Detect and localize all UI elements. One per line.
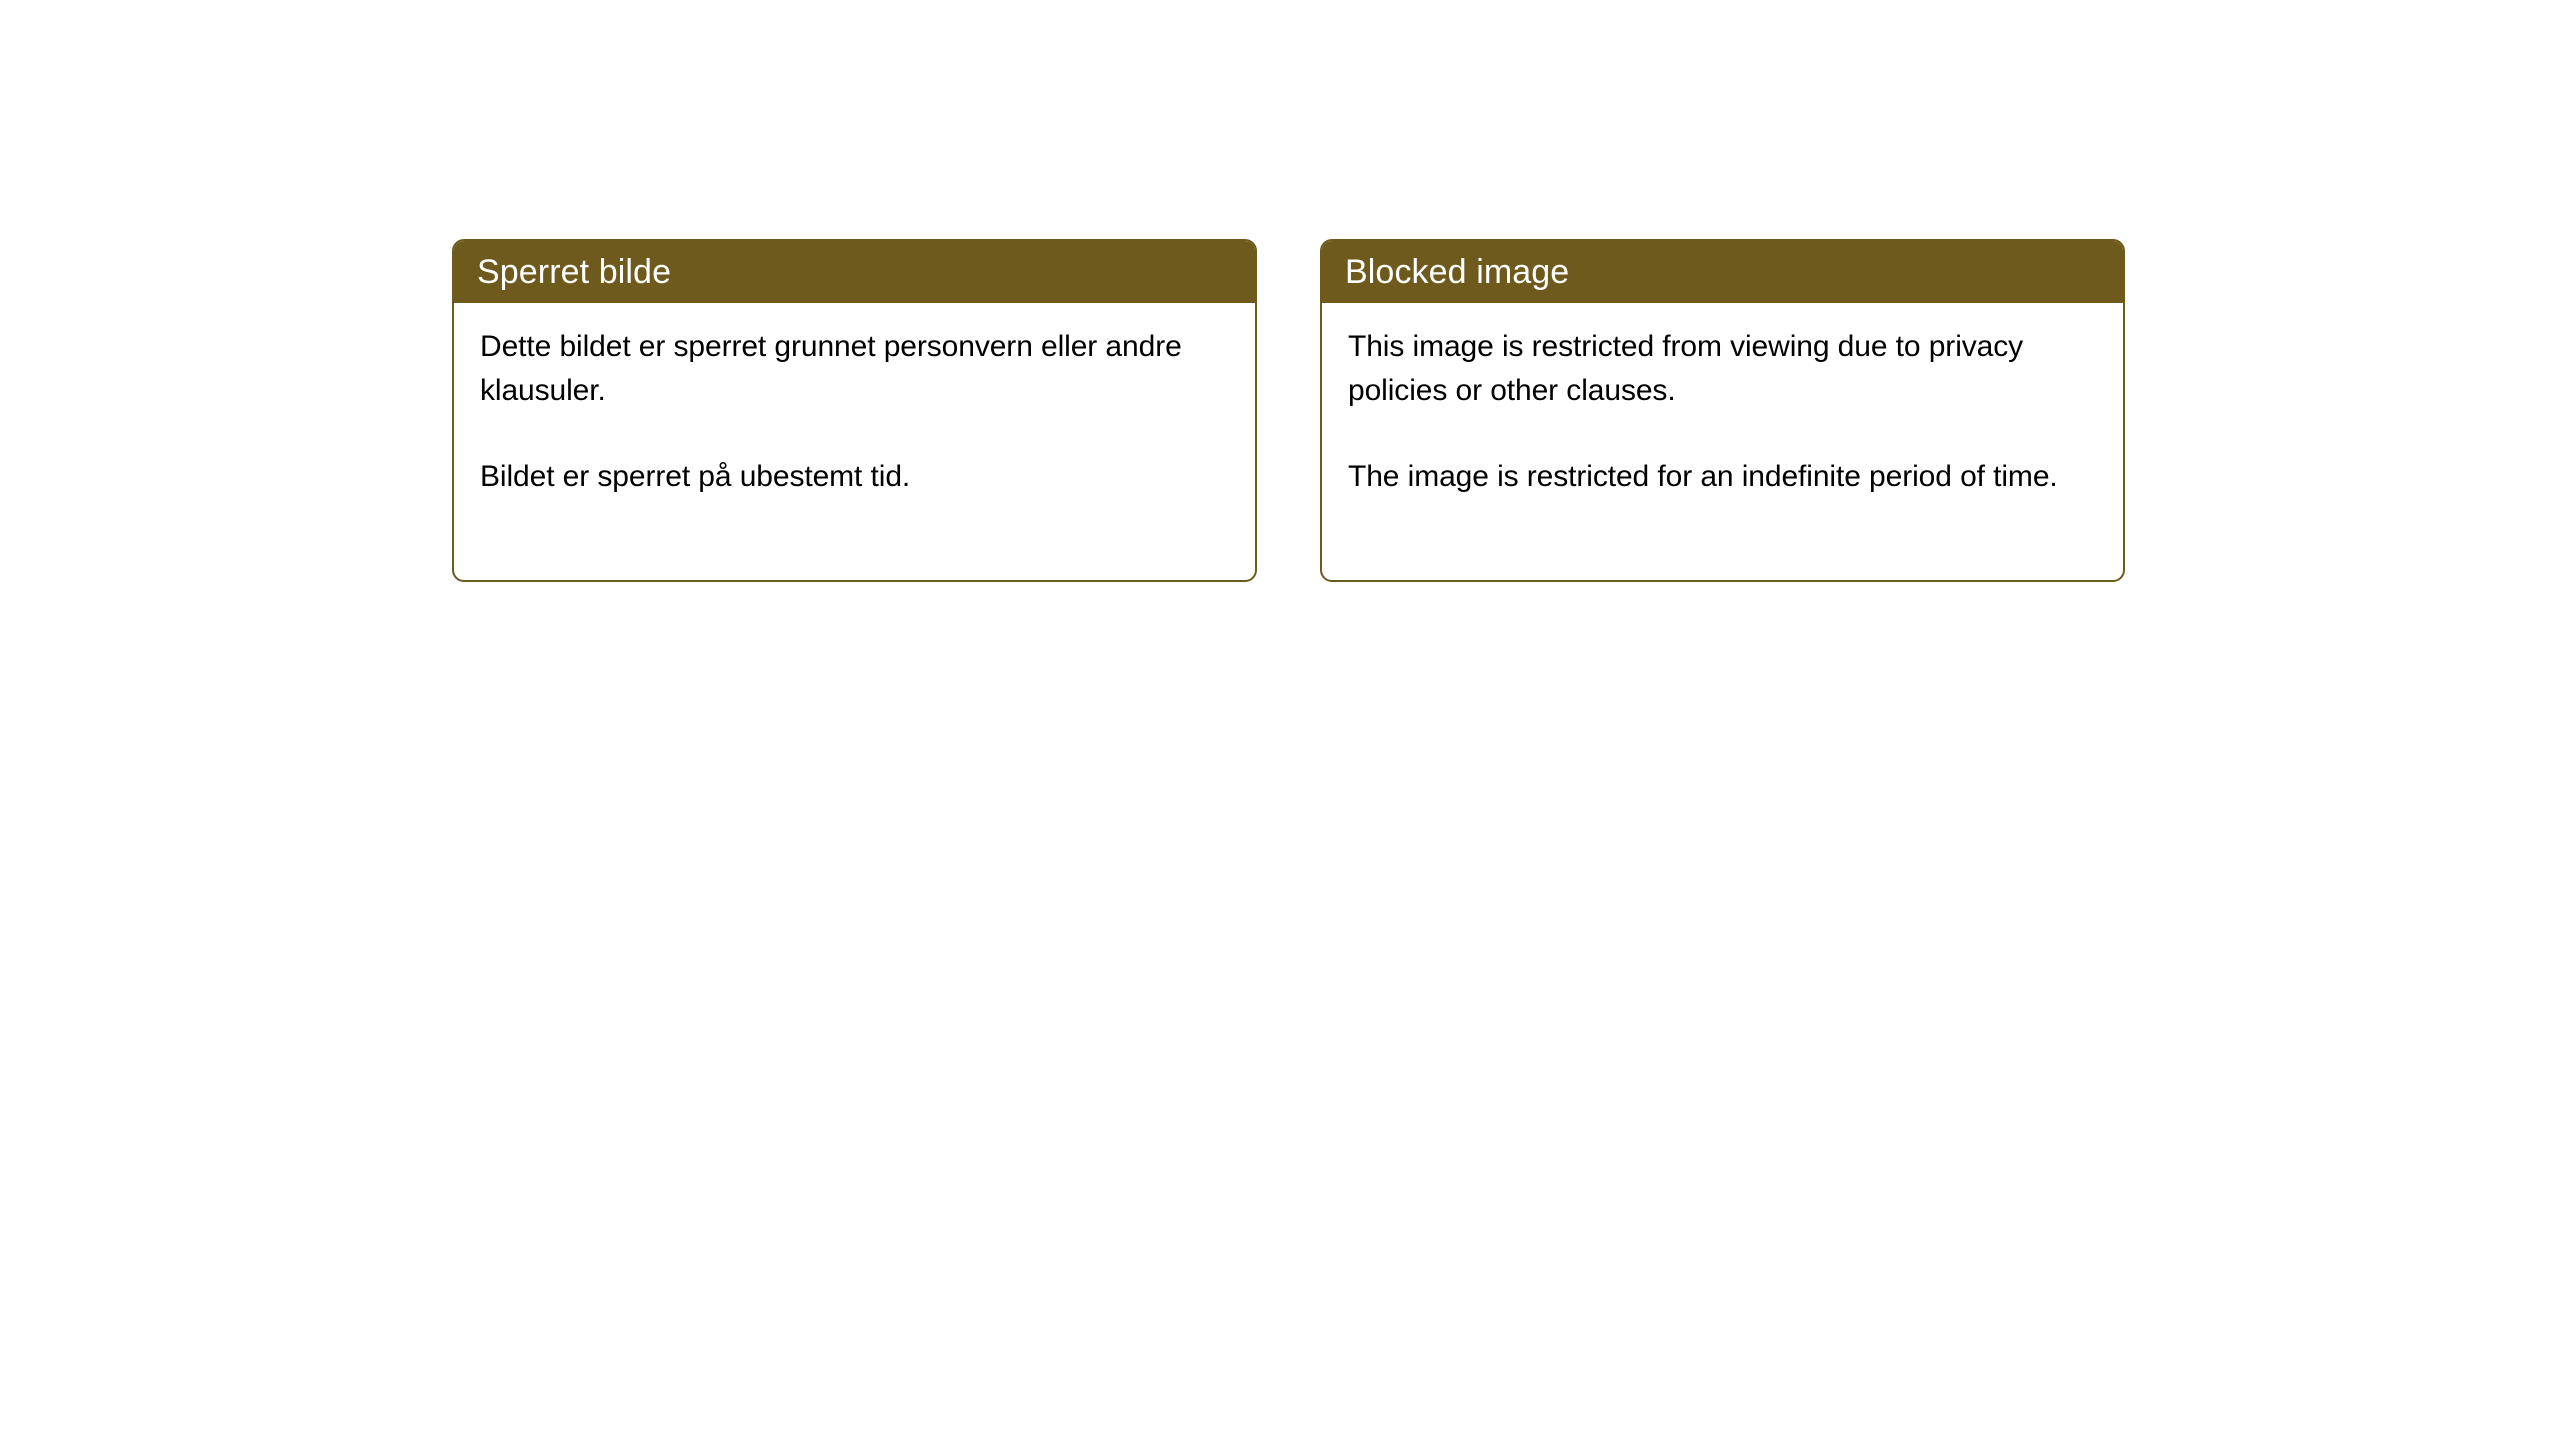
panel-header-norwegian: Sperret bilde xyxy=(453,240,1256,303)
panel-paragraph-secondary-english: The image is restricted for an indefinit… xyxy=(1348,455,2097,499)
panel-paragraph-primary-english: This image is restricted from viewing du… xyxy=(1348,325,2097,413)
panel-body-norwegian: Dette bildet er sperret grunnet personve… xyxy=(454,303,1255,499)
page-root: Sperret bilde Dette bildet er sperret gr… xyxy=(0,0,2560,1440)
panel-title-norwegian: Sperret bilde xyxy=(477,255,671,289)
panel-title-english: Blocked image xyxy=(1345,255,1569,289)
blocked-image-notice-norwegian: Sperret bilde Dette bildet er sperret gr… xyxy=(452,239,1257,582)
panel-paragraph-primary-norwegian: Dette bildet er sperret grunnet personve… xyxy=(480,325,1229,413)
panel-paragraph-secondary-norwegian: Bildet er sperret på ubestemt tid. xyxy=(480,455,1229,499)
blocked-image-notice-english: Blocked image This image is restricted f… xyxy=(1320,239,2125,582)
panel-header-english: Blocked image xyxy=(1321,240,2124,303)
paragraph-spacer xyxy=(1348,413,2097,455)
paragraph-spacer xyxy=(480,413,1229,455)
panel-body-english: This image is restricted from viewing du… xyxy=(1322,303,2123,499)
